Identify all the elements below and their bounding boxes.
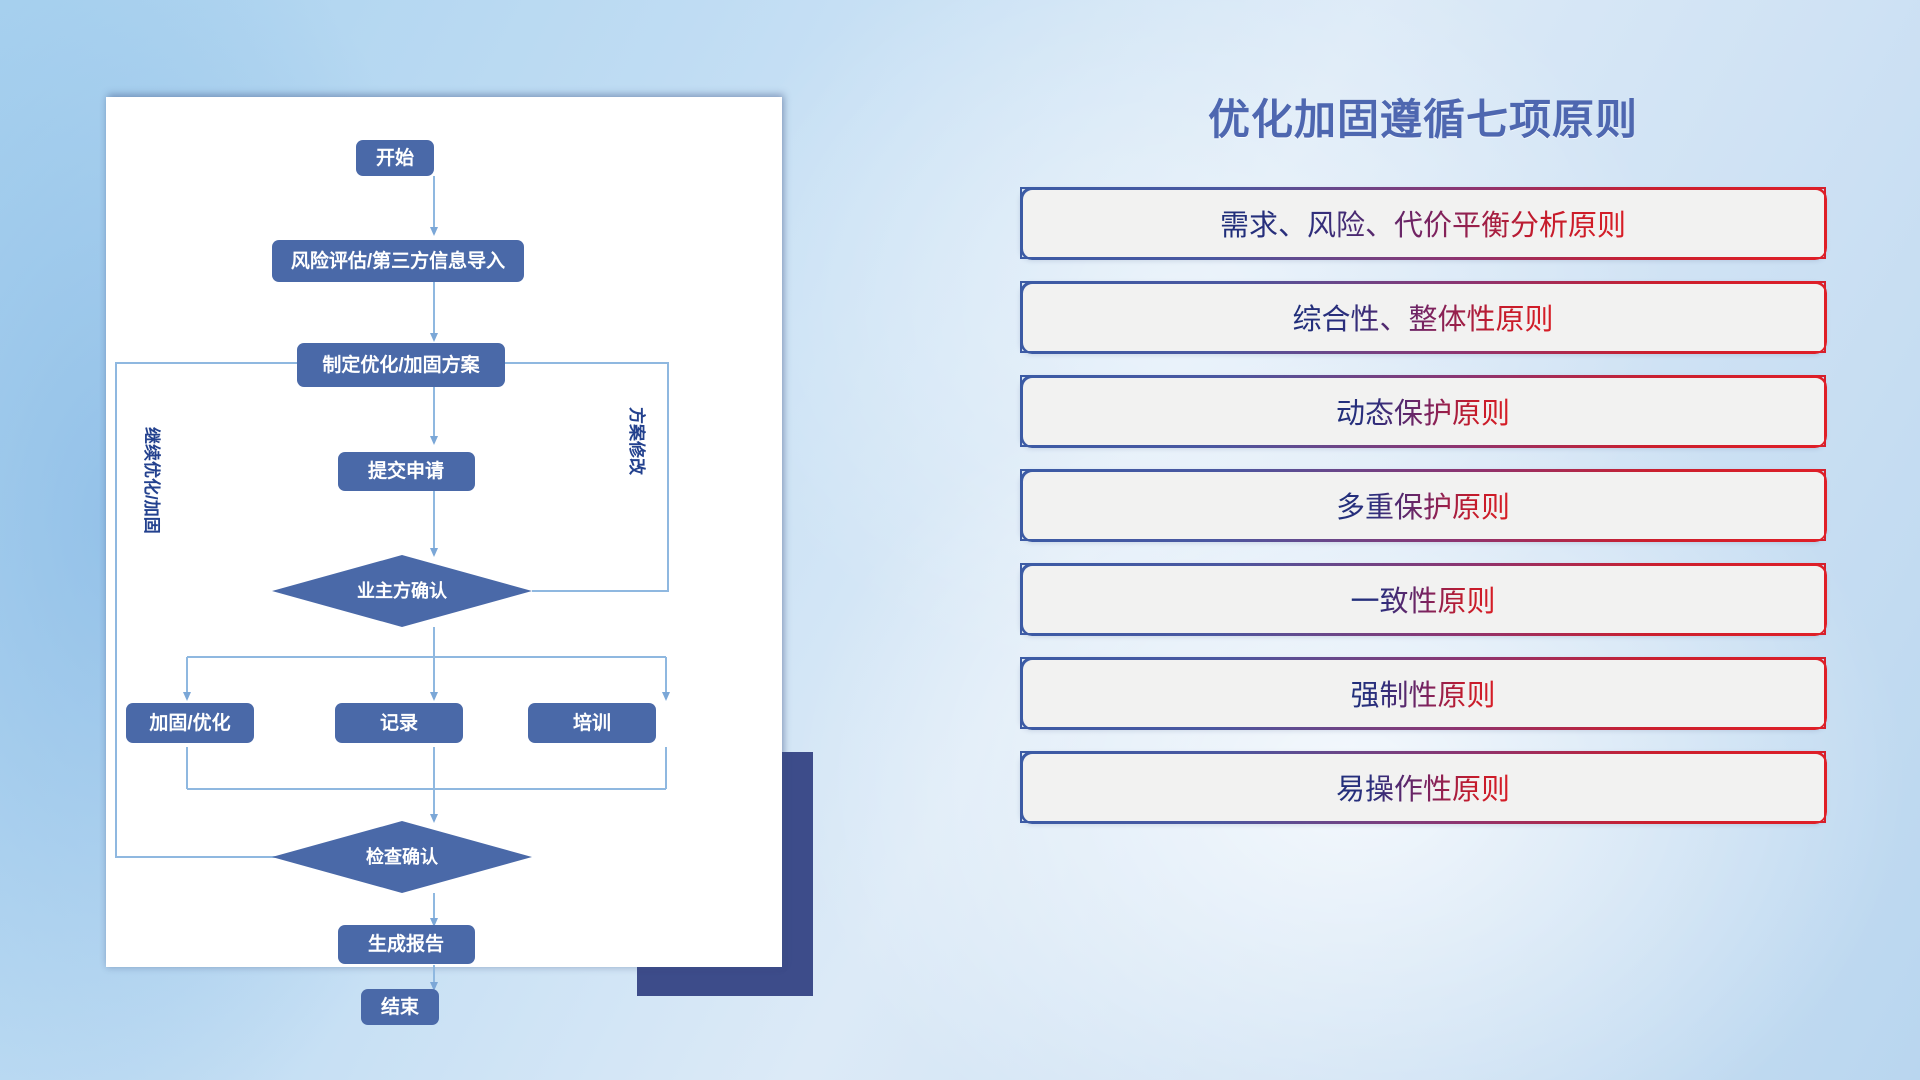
flow-side-label-left: 继续优化/加固: [142, 427, 162, 534]
principle-item[interactable]: 多重保护原则: [1020, 469, 1826, 541]
principles-panel: 优化加固遵循七项原则 需求、风险、代价平衡分析原则 综合性、整体性原则 动态保护…: [1020, 86, 1826, 1006]
slide-canvas: 开始 风险评估/第三方信息导入 制定优化/加固方案 提交申请 业主方确认: [0, 0, 1920, 1080]
flow-side-label-right: 方案修改: [627, 407, 647, 476]
flowchart-card: 开始 风险评估/第三方信息导入 制定优化/加固方案 提交申请 业主方确认: [106, 97, 782, 967]
principle-item[interactable]: 强制性原则: [1020, 657, 1826, 729]
flow-node-plan-label: 制定优化/加固方案: [322, 353, 480, 376]
flowchart-diagram: 开始 风险评估/第三方信息导入 制定优化/加固方案 提交申请 业主方确认: [106, 97, 782, 967]
principle-item-label: 多重保护原则: [1336, 484, 1510, 526]
flow-node-training[interactable]: 培训: [528, 703, 656, 743]
principle-item-label: 易操作性原则: [1336, 766, 1510, 808]
flow-node-training-label: 培训: [573, 711, 611, 734]
connector-owner-revise-to-plan: [466, 363, 668, 591]
principle-item-label: 一致性原则: [1350, 578, 1495, 620]
flow-node-submit-label: 提交申请: [368, 459, 444, 482]
flow-node-check-confirm-label: 检查确认: [366, 846, 439, 867]
principle-item[interactable]: 动态保护原则: [1020, 375, 1826, 447]
flow-node-check-confirm[interactable]: 检查确认: [272, 821, 532, 893]
flow-node-start[interactable]: 开始: [356, 140, 434, 176]
principle-item-label: 强制性原则: [1350, 672, 1495, 714]
flow-node-owner-confirm-label: 业主方确认: [357, 580, 448, 601]
flow-node-reinforce[interactable]: 加固/优化: [126, 703, 254, 743]
flowchart-diagram-tail: 结束: [106, 917, 782, 1047]
flow-node-record[interactable]: 记录: [335, 703, 463, 743]
principle-item[interactable]: 需求、风险、代价平衡分析原则: [1020, 187, 1826, 259]
flow-node-reinforce-label: 加固/优化: [148, 711, 230, 734]
panel-title: 优化加固遵循七项原则: [1020, 86, 1826, 147]
principle-item[interactable]: 一致性原则: [1020, 563, 1826, 635]
flow-node-record-label: 记录: [380, 712, 418, 734]
flow-node-risk-assessment[interactable]: 风险评估/第三方信息导入: [272, 240, 524, 282]
flow-node-end-visible[interactable]: 结束: [361, 989, 439, 1025]
principles-list: 需求、风险、代价平衡分析原则 综合性、整体性原则 动态保护原则 多重保护原则 一…: [1020, 187, 1826, 823]
flow-node-start-label: 开始: [376, 146, 414, 169]
principle-item-label: 需求、风险、代价平衡分析原则: [1220, 202, 1626, 244]
principle-item-label: 动态保护原则: [1336, 390, 1510, 432]
flow-node-risk-assessment-label: 风险评估/第三方信息导入: [291, 249, 505, 272]
flow-node-submit[interactable]: 提交申请: [338, 452, 475, 491]
principle-item[interactable]: 综合性、整体性原则: [1020, 281, 1826, 353]
flow-node-end-visible-label: 结束: [381, 995, 420, 1018]
flow-node-owner-confirm[interactable]: 业主方确认: [272, 555, 532, 627]
principle-item[interactable]: 易操作性原则: [1020, 751, 1826, 823]
flow-node-plan[interactable]: 制定优化/加固方案: [297, 343, 505, 387]
principle-item-label: 综合性、整体性原则: [1292, 296, 1553, 338]
